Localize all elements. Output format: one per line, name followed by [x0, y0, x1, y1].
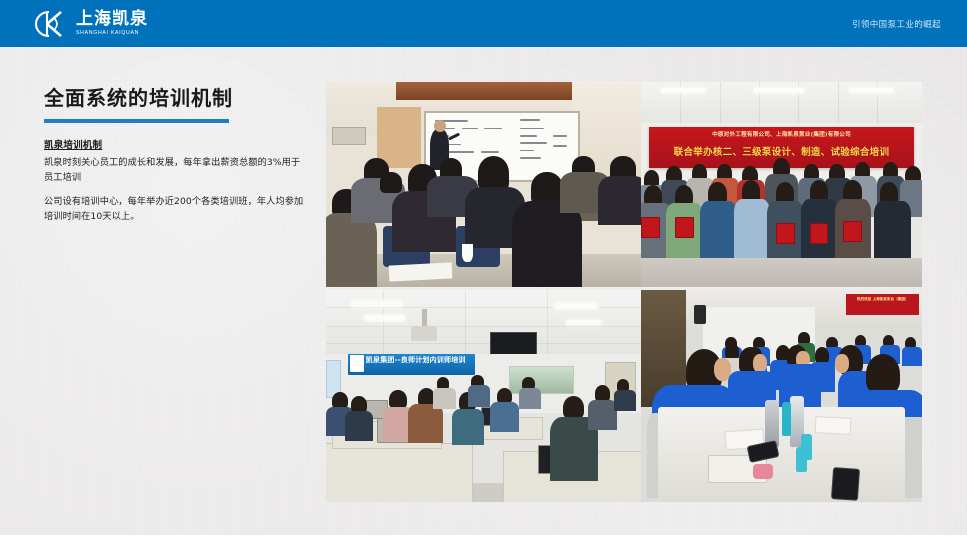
photo-grid: 中原对外工程有限公司、上海凯泉泵业(集团)有限公司 联合举办核二、三级泵设计、制… — [326, 82, 922, 502]
banner-line-1: 中原对外工程有限公司、上海凯泉泵业(集团)有限公司 — [649, 130, 913, 138]
banner-text: 凯泉集团--良师计划内训师培训 — [366, 355, 472, 365]
body-paragraph-2: 公司设有培训中心，每年举办近200个各类培训班，年人均参加培训时间在10天以上。 — [44, 195, 306, 225]
header-slogan: 引领中国泵工业的崛起 — [852, 0, 941, 47]
logo-english-name: SHANGHAI KAIQUAN — [76, 31, 148, 37]
banner-text: 热烈欢迎 上海凯泉泵业（集团） — [846, 297, 919, 302]
page-header: 上海凯泉 SHANGHAI KAIQUAN 引领中国泵工业的崛起 — [0, 0, 967, 47]
logo-chinese-name: 上海凯泉 — [76, 11, 148, 28]
photo-workshop-training[interactable]: 热烈欢迎 上海凯泉泵业（集团） — [641, 290, 922, 502]
text-column: 全面系统的培训机制 凯泉培训机制 凯泉时刻关心员工的成长和发展，每年拿出薪资总额… — [44, 82, 306, 234]
photo-banner-welcome: 热烈欢迎 上海凯泉泵业（集团） — [846, 294, 919, 315]
brand-logo[interactable]: 上海凯泉 SHANGHAI KAIQUAN — [34, 8, 148, 40]
subheading: 凯泉培训机制 — [44, 137, 306, 151]
body-paragraph-1: 凯泉时刻关心员工的成长和发展，每年拿出薪资总额的3%用于员工培训 — [44, 156, 306, 186]
photo-banner-blue: 凯泉集团--良师计划内训师培训 — [348, 354, 474, 375]
photo-lecture-hall[interactable] — [326, 82, 642, 287]
banner-line-2: 联合举办核二、三级泵设计、制造、试验综合培训 — [649, 144, 913, 158]
slide-root: 上海凯泉 SHANGHAI KAIQUAN 引领中国泵工业的崛起 全面系统的培训… — [0, 0, 967, 547]
page-title: 全面系统的培训机制 — [44, 82, 306, 111]
title-underline-rule — [44, 119, 229, 123]
photo-group-certificate[interactable]: 中原对外工程有限公司、上海凯泉泵业(集团)有限公司 联合举办核二、三级泵设计、制… — [641, 82, 922, 287]
kaiquan-k-mark-icon — [34, 9, 70, 39]
photo-computer-classroom[interactable]: 凯泉集团--良师计划内训师培训 — [326, 290, 642, 502]
